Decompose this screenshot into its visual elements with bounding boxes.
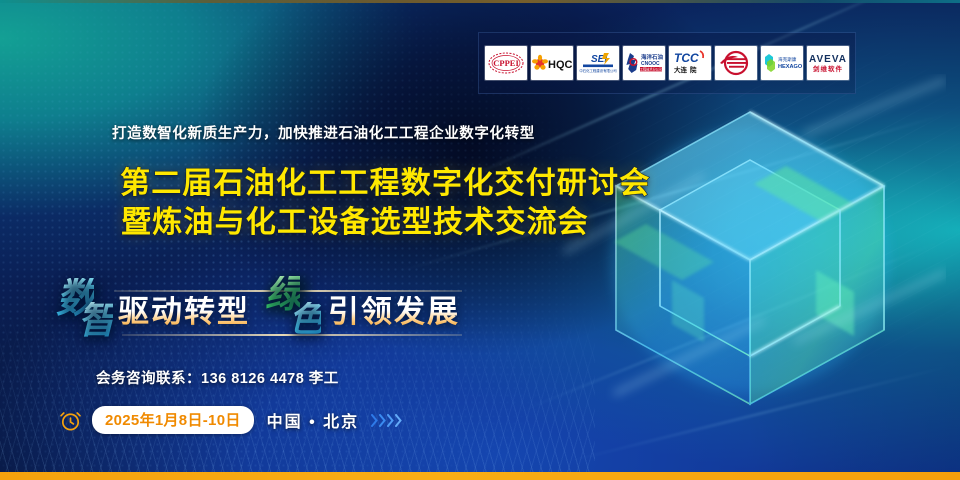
svg-text:CNOOC: CNOOC [641, 61, 660, 67]
slogan-art-zhi: 智 [78, 302, 113, 340]
svg-text:海洋石油: 海洋石油 [641, 53, 664, 61]
cube-halo [538, 52, 960, 469]
svg-text:海克斯康: 海克斯康 [778, 56, 797, 63]
logo-hexagon: 海克斯康 HEXAGON [761, 46, 803, 80]
event-location: 中国 • 北京 [267, 408, 360, 432]
banner-title: 第二届石油化工工程数字化交付研讨会 暨炼油与化工设备选型技术交流会 [120, 166, 590, 241]
chevron-right-icon [379, 414, 386, 427]
event-footer: 2025年1月8日-10日 中国 • 北京 [58, 406, 402, 434]
tcc-logo-icon: TCC 大连 院 [670, 49, 710, 77]
bottom-accent-bar [0, 472, 960, 480]
chevron-right-icon [387, 414, 394, 427]
isometric-cube-graphic [554, 74, 946, 446]
conference-banner: CPPEI HQC [0, 0, 960, 480]
hexagon-logo-icon: 海克斯康 HEXAGON [762, 51, 802, 75]
globe-logo-icon [718, 50, 754, 76]
logo-aveva: AVEVA 剑维软件 [807, 46, 849, 80]
banner-subtitle: 打造数智化新质生产力，加快推进石油化工工程企业数字化转型 [112, 122, 535, 143]
svg-text:大连: 大连 [674, 65, 688, 74]
cppei-logo-icon: CPPEI [486, 48, 526, 78]
hqc-logo-icon: HQC [532, 50, 572, 76]
event-date-badge: 2025年1月8日-10日 [92, 406, 254, 434]
svg-text:工程技术分公司: 工程技术分公司 [640, 67, 662, 72]
logo-sinopec-globe [715, 46, 757, 80]
alarm-clock-icon [58, 408, 83, 433]
slogan-main-1: 驱动转型 [118, 296, 250, 327]
chevron-right-icon [395, 414, 402, 427]
title-line-1: 第二届石油化工工程数字化交付研讨会 [120, 166, 590, 203]
slogan-art-se: 色 [289, 302, 321, 337]
svg-text:中石化工程建设有限公司: 中石化工程建设有限公司 [579, 68, 616, 73]
svg-text:剑维软件: 剑维软件 [812, 64, 843, 73]
chevron-group [371, 414, 402, 427]
top-edge-line [0, 0, 960, 3]
sponsor-logo-strip: CPPEI HQC [478, 32, 856, 94]
sei-logo-icon: SEI 中石化工程建设有限公司 [578, 49, 618, 77]
chevron-right-icon [371, 414, 378, 427]
logo-cppei: CPPEI [485, 46, 527, 80]
contact-info: 会务咨询联系：136 8126 4478 李工 [96, 367, 339, 388]
svg-text:AVEVA: AVEVA [809, 54, 847, 65]
logo-tcc: TCC 大连 院 [669, 46, 711, 80]
svg-text:院: 院 [690, 65, 697, 74]
svg-text:HEXAGON: HEXAGON [778, 64, 802, 70]
logo-hqc: HQC [531, 46, 573, 80]
aveva-logo-icon: AVEVA 剑维软件 [808, 50, 848, 76]
cnooc-logo-icon: 海洋石油 CNOOC 工程技术分公司 [624, 49, 664, 77]
svg-text:TCC: TCC [674, 51, 699, 65]
slogan-main-2: 引领发展 [328, 296, 460, 327]
logo-cnooc-eng: 海洋石油 CNOOC 工程技术分公司 [623, 46, 665, 80]
svg-text:HQC: HQC [548, 59, 572, 71]
title-line-2: 暨炼油与化工设备选型技术交流会 [120, 205, 590, 242]
svg-text:CPPEI: CPPEI [493, 58, 519, 68]
banner-slogan: 数 智 驱动转型 绿 色 引领发展 [52, 272, 482, 350]
logo-sei: SEI 中石化工程建设有限公司 [577, 46, 619, 80]
